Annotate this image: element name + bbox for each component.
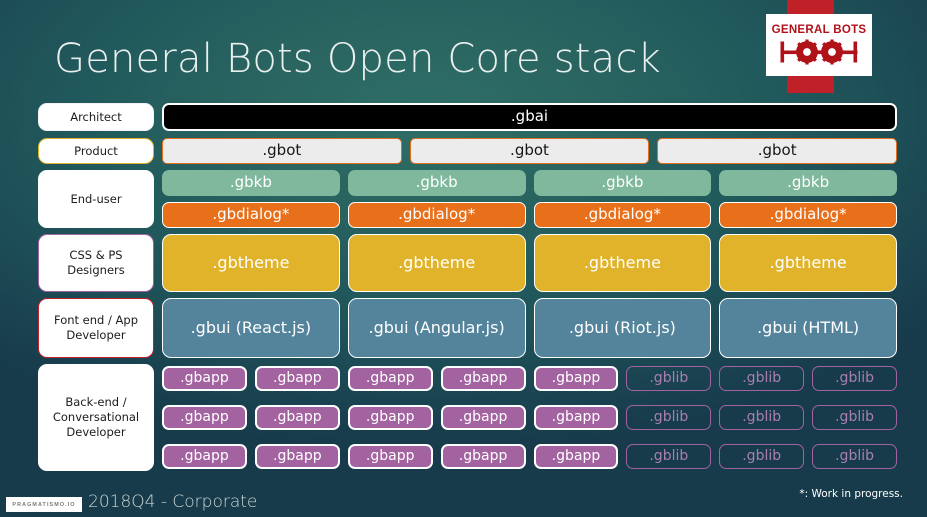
role-label-4: Font end / AppDeveloper bbox=[38, 298, 154, 358]
stack-box-gbapp-r1c0[interactable]: .gbapp bbox=[162, 405, 247, 430]
role-label-line: Developer bbox=[66, 425, 125, 439]
stack-box-gbapp-r0c3[interactable]: .gbapp bbox=[441, 366, 526, 391]
stack-box-gbapp-r1c4[interactable]: .gbapp bbox=[534, 405, 619, 430]
general-bots-logo: GENERAL BOTS bbox=[766, 14, 872, 76]
role-label-line: Back-end / bbox=[65, 395, 126, 409]
stack-box-gbdialog-1[interactable]: .gbdialog* bbox=[348, 202, 526, 228]
role-label-line: CSS & PS bbox=[69, 248, 122, 262]
stack-box-gbdialog-2[interactable]: .gbdialog* bbox=[534, 202, 712, 228]
role-label-line: Designers bbox=[67, 263, 125, 277]
stack-box-gbot-2[interactable]: .gbot bbox=[657, 138, 897, 164]
stack-box-gbapp-r1c3[interactable]: .gbapp bbox=[441, 405, 526, 430]
stack-box-gbui-3[interactable]: .gbui (HTML) bbox=[719, 298, 897, 358]
role-label-0: Architect bbox=[38, 103, 154, 131]
stack-box-gblib-r2c5[interactable]: .gblib bbox=[626, 444, 711, 469]
role-label-line: Conversational bbox=[53, 410, 139, 424]
stack-box-gbkb-0[interactable]: .gbkb bbox=[162, 170, 340, 196]
stack-box-gbapp-r2c1[interactable]: .gbapp bbox=[255, 444, 340, 469]
stack-box-gbtheme-3[interactable]: .gbtheme bbox=[719, 234, 897, 292]
footer-note: 2018Q4 - Corporate bbox=[88, 492, 257, 512]
stack-box-gbapp-r0c1[interactable]: .gbapp bbox=[255, 366, 340, 391]
gears-icon bbox=[777, 39, 861, 65]
stack-box-gbui-1[interactable]: .gbui (Angular.js) bbox=[348, 298, 526, 358]
stack-box-gbtheme-2[interactable]: .gbtheme bbox=[534, 234, 712, 292]
role-label-line: Font end / App bbox=[54, 313, 138, 327]
role-label-2: End-user bbox=[38, 170, 154, 228]
stack-box-gblib-r0c7[interactable]: .gblib bbox=[812, 366, 897, 391]
role-label-line: Developer bbox=[66, 328, 125, 342]
stack-box-gbapp-r0c2[interactable]: .gbapp bbox=[348, 366, 433, 391]
stack-box-gbapp-r2c0[interactable]: .gbapp bbox=[162, 444, 247, 469]
stack-box-gbui-2[interactable]: .gbui (Riot.js) bbox=[534, 298, 712, 358]
stack-box-gbkb-2[interactable]: .gbkb bbox=[534, 170, 712, 196]
stack-box-gbdialog-0[interactable]: .gbdialog* bbox=[162, 202, 340, 228]
role-label-line: Product bbox=[74, 144, 118, 158]
stack-box-gblib-r2c6[interactable]: .gblib bbox=[719, 444, 804, 469]
pragmatismo-logo: PRAGMATISMO.IO bbox=[6, 497, 82, 512]
stack-box-gbapp-r2c2[interactable]: .gbapp bbox=[348, 444, 433, 469]
page-title: General Bots Open Core stack bbox=[54, 36, 661, 82]
role-label-5: Back-end /ConversationalDeveloper bbox=[38, 364, 154, 471]
stack-box-gbkb-3[interactable]: .gbkb bbox=[719, 170, 897, 196]
stack-box-gblib-r1c7[interactable]: .gblib bbox=[812, 405, 897, 430]
stack-box-gbapp-r2c4[interactable]: .gbapp bbox=[534, 444, 619, 469]
stack-box-gbtheme-0[interactable]: .gbtheme bbox=[162, 234, 340, 292]
stack-box-gbot-0[interactable]: .gbot bbox=[162, 138, 402, 164]
stack-box-gblib-r0c6[interactable]: .gblib bbox=[719, 366, 804, 391]
stack-box-gbapp-r2c3[interactable]: .gbapp bbox=[441, 444, 526, 469]
logo-wordmark: GENERAL BOTS bbox=[772, 25, 867, 37]
stack-box-gbapp-r1c2[interactable]: .gbapp bbox=[348, 405, 433, 430]
stack-box-gblib-r1c6[interactable]: .gblib bbox=[719, 405, 804, 430]
stack-box-gbot-1[interactable]: .gbot bbox=[410, 138, 650, 164]
role-label-line: End-user bbox=[70, 192, 121, 206]
stack-box-gblib-r2c7[interactable]: .gblib bbox=[812, 444, 897, 469]
stack-box-gbui-0[interactable]: .gbui (React.js) bbox=[162, 298, 340, 358]
stack-box-gbapp-r1c1[interactable]: .gbapp bbox=[255, 405, 340, 430]
stack-box-gbapp-r0c4[interactable]: .gbapp bbox=[534, 366, 619, 391]
role-label-1: Product bbox=[38, 138, 154, 164]
stack-box-gbkb-1[interactable]: .gbkb bbox=[348, 170, 526, 196]
stack-box-gbdialog-3[interactable]: .gbdialog* bbox=[719, 202, 897, 228]
work-in-progress-note: *: Work in progress. bbox=[799, 488, 903, 500]
stack-box-gbtheme-1[interactable]: .gbtheme bbox=[348, 234, 526, 292]
pragmatismo-wordmark: PRAGMATISMO.IO bbox=[12, 502, 75, 508]
role-label-line: Architect bbox=[70, 110, 122, 124]
stack-box-gbapp-r0c0[interactable]: .gbapp bbox=[162, 366, 247, 391]
slide-canvas: GENERAL BOTS bbox=[0, 0, 927, 517]
stack-box-gblib-r0c5[interactable]: .gblib bbox=[626, 366, 711, 391]
stack-box-gblib-r1c5[interactable]: .gblib bbox=[626, 405, 711, 430]
role-label-3: CSS & PSDesigners bbox=[38, 234, 154, 292]
stack-box-gbai[interactable]: .gbai bbox=[162, 103, 897, 131]
